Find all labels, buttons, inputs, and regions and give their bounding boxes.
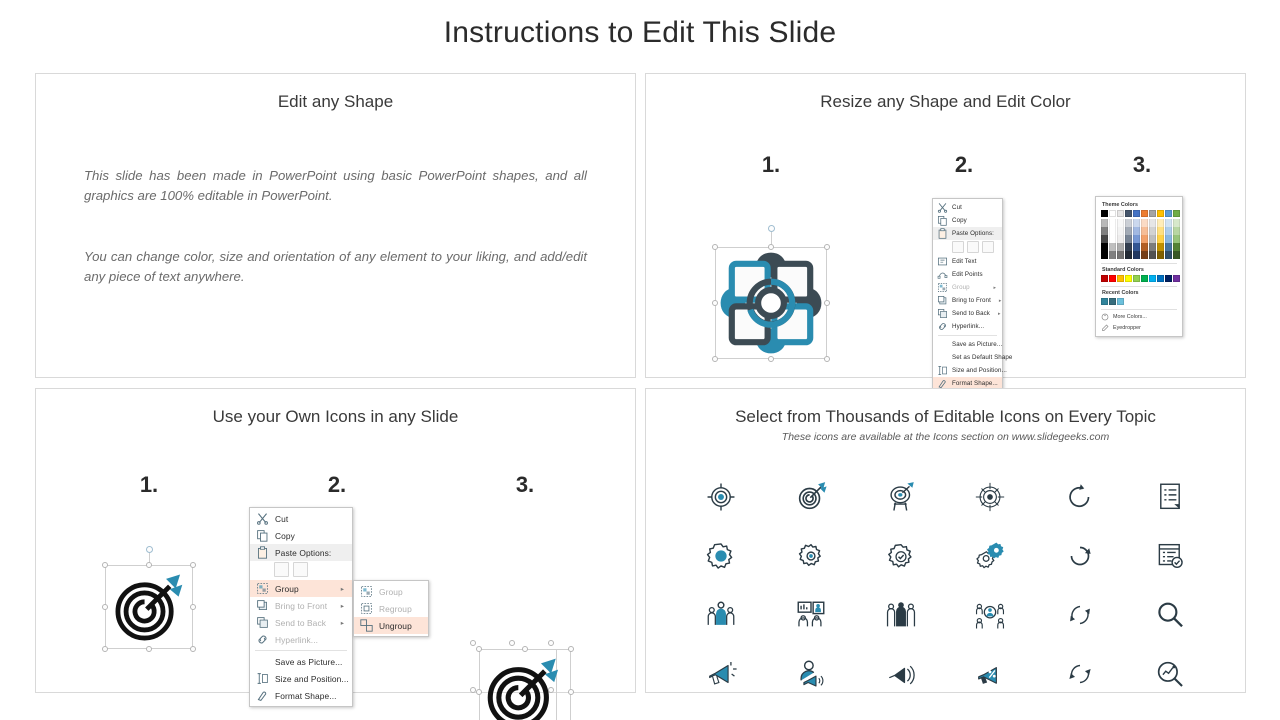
theme-tint-8-1[interactable] [1165, 227, 1172, 235]
panel-use-own-icons: Use your Own Icons in any Slide 1. 2. 3. [35, 388, 636, 693]
scissors-icon [256, 512, 269, 525]
person-megaphone-icon[interactable] [791, 654, 831, 694]
bring-front-icon [256, 599, 269, 612]
menu-item-label: Set as Default Shape [952, 354, 1012, 361]
checklist-document-icon[interactable] [1150, 477, 1190, 517]
theme-tint-column-1[interactable] [1109, 219, 1116, 259]
sub-handle-w[interactable] [470, 687, 476, 693]
submenu-item-group[interactable]: Group [354, 583, 428, 600]
theme-tint-2-1[interactable] [1117, 227, 1124, 235]
submenu-item-ungroup[interactable]: Ungroup [354, 617, 428, 634]
sub-handle-ne[interactable] [548, 640, 554, 646]
menu-item-label: Bring to Front [952, 297, 991, 304]
menu-item-send-to-back[interactable]: Send to Back▸ [933, 307, 1002, 320]
standard-swatch-3[interactable] [1125, 275, 1132, 282]
refresh-arrow-icon[interactable] [1060, 477, 1100, 517]
resize-handle-e[interactable] [190, 604, 196, 610]
menu-item-label: Size and Position... [275, 674, 349, 684]
target-arrow-icon [482, 654, 564, 720]
standard-swatch-9[interactable] [1173, 275, 1180, 282]
sub-handle-nw[interactable] [470, 640, 476, 646]
resize-handle-e[interactable] [568, 689, 574, 695]
resize-handle-n[interactable] [522, 646, 528, 652]
standard-swatch-1[interactable] [1109, 275, 1116, 282]
theme-tint-column-2[interactable] [1117, 219, 1124, 259]
menu-item-label: Cut [275, 514, 288, 524]
icon-context-menu-items: CutCopyPaste Options:Group▸Bring to Fron… [250, 510, 352, 704]
icons-step-number-1: 1. [140, 472, 158, 498]
paste-merge-icon[interactable] [967, 241, 979, 253]
sub-handle-n[interactable] [509, 640, 515, 646]
resize-step-number-2: 2. [955, 152, 973, 178]
standard-swatch-7[interactable] [1157, 275, 1164, 282]
copy-icon [937, 215, 948, 226]
resize-step-number-1: 1. [762, 152, 780, 178]
theme-tint-5-2[interactable] [1141, 235, 1148, 243]
paste-options-row[interactable] [933, 240, 1002, 255]
none [937, 339, 948, 350]
more-colors-label: More Colors... [1113, 314, 1147, 320]
bring-front-icon [937, 295, 948, 306]
theme-tint-2-3[interactable] [1117, 243, 1124, 251]
palette-icon [1101, 313, 1109, 321]
menu-item-cut[interactable]: Cut [250, 510, 352, 527]
paste-picture-icon[interactable] [982, 241, 994, 253]
theme-tint-1-4[interactable] [1109, 251, 1116, 259]
menu-item-paste-options[interactable]: Paste Options: [933, 227, 1002, 240]
eyedropper-icon [1101, 324, 1109, 332]
group-icon [256, 582, 269, 595]
theme-tint-9-4[interactable] [1173, 251, 1180, 259]
theme-swatch-1[interactable] [1109, 210, 1116, 217]
theme-tint-4-0[interactable] [1133, 219, 1140, 227]
standard-swatch-6[interactable] [1149, 275, 1156, 282]
menu-item-set-as-default-shape[interactable]: Set as Default Shape [933, 351, 1002, 364]
theme-tint-4-3[interactable] [1133, 243, 1140, 251]
theme-tint-3-2[interactable] [1125, 235, 1132, 243]
menu-item-label: Size and Position... [952, 367, 1007, 374]
theme-tint-7-2[interactable] [1157, 235, 1164, 243]
menu-item-paste-options[interactable]: Paste Options: [250, 544, 352, 561]
paste-icon [937, 228, 948, 239]
menu-item-label: Hyperlink... [275, 635, 318, 645]
magnifier-icon[interactable] [1150, 595, 1190, 635]
theme-tint-1-1[interactable] [1109, 227, 1116, 235]
size-position-icon [256, 672, 269, 685]
theme-tint-7-4[interactable] [1157, 251, 1164, 259]
panel-edit-any-shape: Edit any Shape This slide has been made … [35, 73, 636, 378]
theme-swatch-3[interactable] [1125, 210, 1132, 217]
resize-handle-nw[interactable] [102, 562, 108, 568]
theme-tint-column-0[interactable] [1101, 219, 1108, 259]
none [937, 352, 948, 363]
menu-divider [938, 335, 997, 336]
menu-item-label: Save as Picture... [275, 657, 342, 667]
scissors-icon [937, 202, 948, 213]
theme-tint-0-1[interactable] [1101, 227, 1108, 235]
menu-item-send-to-back[interactable]: Send to Back▸ [250, 614, 352, 631]
icon-library-subtitle: These icons are available at the Icons s… [646, 431, 1245, 443]
cycle-arrows-icon[interactable] [1060, 595, 1100, 635]
standard-swatch-2[interactable] [1117, 275, 1124, 282]
gear-check-icon[interactable] [881, 536, 921, 576]
theme-tint-8-0[interactable] [1165, 219, 1172, 227]
theme-tint-7-0[interactable] [1157, 219, 1164, 227]
icons-step-number-3: 3. [516, 472, 534, 498]
resize-step-number-3: 3. [1133, 152, 1151, 178]
menu-item-bring-to-front[interactable]: Bring to Front▸ [933, 294, 1002, 307]
theme-tint-8-2[interactable] [1165, 235, 1172, 243]
rotate-handle[interactable] [768, 225, 775, 232]
menu-item-label: Save as Picture... [952, 341, 1002, 348]
edit-text-icon [937, 256, 948, 267]
resize-handle-nw[interactable] [476, 646, 482, 652]
menu-item-group[interactable]: Group▸ [250, 580, 352, 597]
edit-points-icon [937, 269, 948, 280]
resize-handle-w[interactable] [102, 604, 108, 610]
theme-swatch-2[interactable] [1117, 210, 1124, 217]
target-arrow-icon [110, 570, 188, 644]
resize-handle-ne[interactable] [568, 646, 574, 652]
paste-icon [937, 228, 948, 239]
standard-swatch-0[interactable] [1101, 275, 1108, 282]
theme-tint-9-1[interactable] [1173, 227, 1180, 235]
format-shape-icon [256, 689, 269, 702]
paste-keep-formatting-icon[interactable] [274, 562, 289, 577]
resize-handle-n[interactable] [146, 562, 152, 568]
panel-title-edit-shape: Edit any Shape [36, 92, 635, 112]
selected-target-icon-figure[interactable] [105, 565, 193, 649]
four-square-circle-icon [715, 247, 827, 359]
eyedropper-item[interactable]: Eyedropper [1101, 324, 1177, 332]
speaker-icon[interactable] [881, 654, 921, 694]
theme-tint-5-1[interactable] [1141, 227, 1148, 235]
theme-tint-6-0[interactable] [1149, 219, 1156, 227]
standard-swatch-4[interactable] [1133, 275, 1140, 282]
chevron-right-icon: ▸ [333, 585, 344, 593]
theme-swatch-0[interactable] [1101, 210, 1108, 217]
group-icon [256, 582, 269, 595]
recent-colors-row[interactable] [1101, 298, 1177, 305]
theme-swatch-5[interactable] [1141, 210, 1148, 217]
theme-swatch-9[interactable] [1173, 210, 1180, 217]
menu-item-label: Format Shape... [952, 380, 998, 387]
menu-item-label: Copy [952, 217, 967, 224]
menu-item-size-and-position[interactable]: Size and Position... [933, 364, 1002, 377]
theme-tint-6-4[interactable] [1149, 251, 1156, 259]
theme-swatch-7[interactable] [1157, 210, 1164, 217]
size-position-icon [937, 365, 948, 376]
menu-item-label: Paste Options: [952, 230, 994, 237]
bring-front-icon [937, 295, 948, 306]
menu-item-hyperlink[interactable]: Hyperlink... [933, 320, 1002, 333]
menu-item-label: Edit Text [952, 258, 977, 265]
theme-tint-7-3[interactable] [1157, 243, 1164, 251]
theme-tint-1-3[interactable] [1109, 243, 1116, 251]
menu-item-label: Edit Points [952, 271, 983, 278]
document-check-icon[interactable] [1150, 536, 1190, 576]
theme-tint-column-8[interactable] [1165, 219, 1172, 259]
bring-front-icon [256, 599, 269, 612]
theme-tint-5-3[interactable] [1141, 243, 1148, 251]
more-colors-item[interactable]: More Colors... [1101, 313, 1177, 321]
group-icon [360, 585, 373, 598]
standard-colors-row[interactable] [1101, 275, 1177, 282]
edit-shape-paragraph-1: This slide has been made in PowerPoint u… [84, 166, 587, 207]
theme-tint-column-4[interactable] [1133, 219, 1140, 259]
theme-tint-2-2[interactable] [1117, 235, 1124, 243]
theme-tint-column-3[interactable] [1125, 219, 1132, 259]
page-title: Instructions to Edit This Slide [0, 16, 1280, 50]
ungroup-icon [360, 619, 373, 632]
theme-tint-column-9[interactable] [1173, 219, 1180, 259]
shape-context-menu-items: CutCopyPaste Options:Edit TextEdit Point… [933, 201, 1002, 390]
menu-item-group[interactable]: Group▸ [933, 281, 1002, 294]
scissors-icon [256, 512, 269, 525]
magnifier-chart-icon[interactable] [1150, 654, 1190, 694]
menu-item-label: Group [275, 584, 299, 594]
resize-handle-se[interactable] [190, 646, 196, 652]
theme-tint-2-4[interactable] [1117, 251, 1124, 259]
recent-colors-label: Recent Colors [1102, 290, 1177, 296]
size-position-icon [937, 365, 948, 376]
divider [1101, 309, 1177, 310]
chevron-right-icon: ▸ [985, 285, 996, 291]
resize-handle-ne[interactable] [190, 562, 196, 568]
people-group-icon[interactable] [881, 595, 921, 635]
recent-swatch-2[interactable] [1117, 298, 1124, 305]
theme-tint-3-0[interactable] [1125, 219, 1132, 227]
group-icon [360, 585, 373, 598]
rotate-handle[interactable] [146, 546, 153, 553]
two-gears-icon[interactable] [970, 536, 1010, 576]
menu-item-cut[interactable]: Cut [933, 201, 1002, 214]
copy-icon [937, 215, 948, 226]
theme-tint-4-4[interactable] [1133, 251, 1140, 259]
theme-tint-6-3[interactable] [1149, 243, 1156, 251]
divider [1101, 263, 1177, 264]
megaphone-percent-icon[interactable] [970, 654, 1010, 694]
submenu-item-regroup[interactable]: Regroup [354, 600, 428, 617]
panel-title-own-icons: Use your Own Icons in any Slide [36, 407, 635, 427]
hyperlink-icon [937, 321, 948, 332]
theme-tint-4-1[interactable] [1133, 227, 1140, 235]
theme-tint-5-4[interactable] [1141, 251, 1148, 259]
target-arrow-icon[interactable] [791, 477, 831, 517]
refresh-cycle-icon[interactable] [1060, 654, 1100, 694]
hyperlink-icon [256, 633, 269, 646]
scissors-icon [937, 202, 948, 213]
submenu-item-label: Regroup [379, 604, 412, 614]
submenu-item-label: Group [379, 587, 403, 597]
theme-swatch-6[interactable] [1149, 210, 1156, 217]
theme-tint-6-2[interactable] [1149, 235, 1156, 243]
menu-item-label: Cut [952, 204, 962, 211]
copy-icon [256, 529, 269, 542]
menu-item-label: Copy [275, 531, 295, 541]
slide-canvas: Instructions to Edit This Slide Edit any… [0, 0, 1280, 720]
theme-tint-8-3[interactable] [1165, 243, 1172, 251]
chevron-right-icon: ▸ [991, 298, 1002, 304]
copy-icon [256, 529, 269, 542]
group-submenu-items: Group Regroup Ungroup [354, 583, 428, 634]
theme-tint-7-1[interactable] [1157, 227, 1164, 235]
color-picker-panel[interactable]: Theme Colors Standard Colors Recent Colo… [1095, 196, 1183, 337]
menu-item-save-as-picture[interactable]: Save as Picture... [933, 338, 1002, 351]
edit-points-icon [937, 269, 948, 280]
resize-handle-sw[interactable] [102, 646, 108, 652]
menu-item-save-as-picture[interactable]: Save as Picture... [250, 653, 352, 670]
regroup-icon [360, 602, 373, 615]
theme-tint-1-2[interactable] [1109, 235, 1116, 243]
paste-icon [256, 546, 269, 559]
panel-title-resize-shape: Resize any Shape and Edit Color [646, 92, 1245, 112]
menu-item-label: Format Shape... [275, 691, 337, 701]
theme-tint-8-4[interactable] [1165, 251, 1172, 259]
edit-text-icon [937, 256, 948, 267]
send-back-icon [937, 308, 948, 319]
presentation-team-icon[interactable] [791, 595, 831, 635]
send-back-icon [256, 616, 269, 629]
theme-tint-3-3[interactable] [1125, 243, 1132, 251]
circular-arrow-icon[interactable] [1060, 536, 1100, 576]
standard-swatch-8[interactable] [1165, 275, 1172, 282]
group-icon [937, 282, 948, 293]
standard-swatch-5[interactable] [1141, 275, 1148, 282]
theme-tint-4-2[interactable] [1133, 235, 1140, 243]
paste-options-row[interactable] [250, 561, 352, 580]
target-scope-icon[interactable] [970, 477, 1010, 517]
menu-item-edit-points[interactable]: Edit Points [933, 268, 1002, 281]
chevron-right-icon: ▸ [990, 311, 1001, 317]
megaphone-icon[interactable] [701, 654, 741, 694]
send-back-icon [256, 616, 269, 629]
target-crosshair-icon[interactable] [701, 477, 741, 517]
divider [1101, 286, 1177, 287]
team-leader-icon[interactable] [701, 595, 741, 635]
theme-tint-1-0[interactable] [1109, 219, 1116, 227]
group-icon [937, 282, 948, 293]
standard-colors-label: Standard Colors [1102, 267, 1177, 273]
theme-colors-row[interactable] [1101, 210, 1177, 217]
theme-tint-2-0[interactable] [1117, 219, 1124, 227]
theme-tint-3-4[interactable] [1125, 251, 1132, 259]
regroup-icon [360, 602, 373, 615]
format-shape-icon [256, 689, 269, 702]
theme-colors-label: Theme Colors [1102, 202, 1177, 208]
gear-filled-icon[interactable] [701, 536, 741, 576]
recent-swatch-1[interactable] [1109, 298, 1116, 305]
theme-tint-9-2[interactable] [1173, 235, 1180, 243]
recent-swatch-0[interactable] [1101, 298, 1108, 305]
menu-item-label: Send to Back [275, 618, 326, 628]
icon-library-grid [676, 467, 1215, 703]
send-back-icon [937, 308, 948, 319]
menu-item-label: Paste Options: [275, 548, 331, 558]
menu-item-copy[interactable]: Copy [933, 214, 1002, 227]
ungrouped-target-icon-figure[interactable] [479, 649, 571, 720]
theme-tint-5-0[interactable] [1141, 219, 1148, 227]
theme-swatch-8[interactable] [1165, 210, 1172, 217]
paste-icon [256, 546, 269, 559]
menu-divider [255, 650, 347, 651]
gear-center-icon[interactable] [791, 536, 831, 576]
paste-picture-icon[interactable] [293, 562, 308, 577]
hyperlink-icon [256, 633, 269, 646]
menu-item-size-and-position[interactable]: Size and Position... [250, 670, 352, 687]
theme-colors-tints[interactable] [1101, 219, 1177, 259]
theme-tint-column-6[interactable] [1149, 219, 1156, 259]
ungroup-icon [360, 619, 373, 632]
panel-icon-library: Select from Thousands of Editable Icons … [645, 388, 1246, 693]
theme-swatch-4[interactable] [1133, 210, 1140, 217]
submenu-item-label: Ungroup [379, 621, 412, 631]
selected-shape-figure[interactable] [715, 247, 827, 359]
theme-tint-9-3[interactable] [1173, 243, 1180, 251]
theme-tint-9-0[interactable] [1173, 219, 1180, 227]
theme-tint-3-1[interactable] [1125, 227, 1132, 235]
panel-resize-shape-edit-color: Resize any Shape and Edit Color 1. 2. 3. [645, 73, 1246, 378]
theme-tint-0-3[interactable] [1101, 243, 1108, 251]
panel-title-icon-library: Select from Thousands of Editable Icons … [646, 407, 1245, 427]
theme-tint-column-5[interactable] [1141, 219, 1148, 259]
menu-item-label: Bring to Front [275, 601, 327, 611]
menu-item-label: Hyperlink... [952, 323, 984, 330]
theme-tint-0-4[interactable] [1101, 251, 1108, 259]
theme-tint-0-2[interactable] [1101, 235, 1108, 243]
theme-tint-0-0[interactable] [1101, 219, 1108, 227]
group-submenu[interactable]: Group Regroup Ungroup [353, 580, 429, 637]
theme-tint-column-7[interactable] [1157, 219, 1164, 259]
menu-item-edit-text[interactable]: Edit Text [933, 255, 1002, 268]
target-stand-arrow-icon[interactable] [881, 477, 921, 517]
resize-handle-s[interactable] [146, 646, 152, 652]
menu-item-copy[interactable]: Copy [250, 527, 352, 544]
paste-keep-formatting-icon[interactable] [952, 241, 964, 253]
menu-item-label: Group [952, 284, 970, 291]
theme-tint-6-1[interactable] [1149, 227, 1156, 235]
icon-context-menu[interactable]: CutCopyPaste Options:Group▸Bring to Fron… [249, 507, 353, 707]
icons-step-number-2: 2. [328, 472, 346, 498]
none [256, 655, 269, 668]
hyperlink-icon [937, 321, 948, 332]
menu-item-format-shape[interactable]: Format Shape... [250, 687, 352, 704]
size-position-icon [256, 672, 269, 685]
menu-item-bring-to-front[interactable]: Bring to Front▸ [250, 597, 352, 614]
menu-item-label: Send to Back [952, 310, 990, 317]
edit-shape-paragraph-2: You can change color, size and orientati… [84, 247, 587, 288]
chevron-right-icon: ▸ [333, 602, 344, 610]
shape-context-menu[interactable]: CutCopyPaste Options:Edit TextEdit Point… [932, 198, 1003, 393]
menu-item-hyperlink[interactable]: Hyperlink... [250, 631, 352, 648]
team-meeting-icon[interactable] [970, 595, 1010, 635]
eyedropper-label: Eyedropper [1113, 325, 1141, 331]
chevron-right-icon: ▸ [333, 619, 344, 627]
